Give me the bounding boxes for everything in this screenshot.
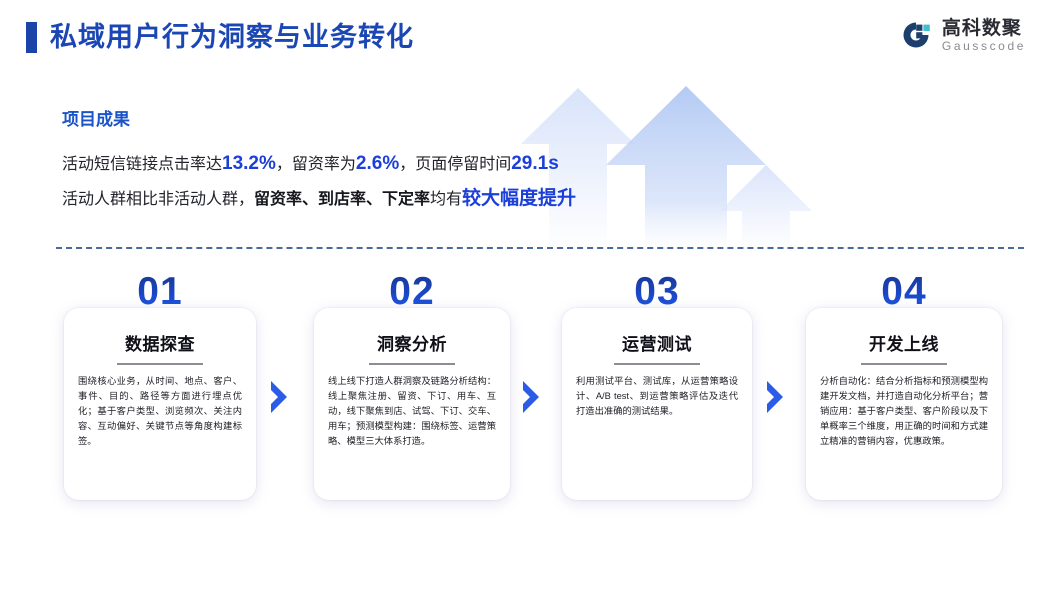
results-line1-seg1: 活动短信链接点击率达 (62, 156, 222, 173)
slide-root: 私域用户行为洞察与业务转化 高科数聚 Gausscode 项目成果 活动短信链接… (0, 0, 1048, 591)
results-section: 项目成果 活动短信链接点击率达13.2%，留资率为2.6%，页面停留时间29.1… (62, 108, 762, 219)
page-header: 私域用户行为洞察与业务转化 高科数聚 Gausscode (0, 0, 1048, 78)
brand-logo-text: 高科数聚 Gausscode (942, 18, 1026, 53)
step-title-rule-04 (861, 363, 947, 365)
steps-section: 01 数据探查 围绕核心业务，从时间、地点、客户、事件、目的、路径等方面进行埋点… (0, 272, 1048, 512)
section-divider (56, 247, 1024, 249)
step-title-rule-02 (369, 363, 455, 365)
metric-lead-rate: 2.6% (356, 153, 399, 174)
results-line-1: 活动短信链接点击率达13.2%，留资率为2.6%，页面停留时间29.1s (62, 149, 762, 180)
brand-name-en: Gausscode (942, 39, 1026, 53)
metric-dwell-time: 29.1s (511, 153, 559, 174)
metric-click-rate: 13.2% (222, 153, 276, 174)
page-title-text: 私域用户行为洞察与业务转化 (50, 22, 414, 53)
step-number-04: 04 (806, 272, 1002, 312)
results-line1-seg3: ，页面停留时间 (399, 156, 511, 173)
step-card-04[interactable]: 04 开发上线 分析自动化：结合分析指标和预测模型构建开发文档，并打造自动化分析… (806, 308, 1002, 500)
step-number-01: 01 (64, 272, 256, 312)
chevron-right-icon-2 (520, 380, 542, 414)
step-text-03: 利用测试平台、测试库，从运营策略设计、A/B test、到运营策略评估及迭代打造… (576, 374, 738, 419)
results-line2-metrics: 留资率、到店率、下定率 (254, 191, 430, 208)
page-title: 私域用户行为洞察与业务转化 (26, 22, 414, 53)
step-title-04: 开发上线 (820, 334, 988, 356)
step-title-03: 运营测试 (576, 334, 738, 356)
results-heading: 项目成果 (62, 108, 762, 132)
brand-name-cn: 高科数聚 (942, 18, 1026, 39)
step-text-02: 线上线下打造人群洞察及链路分析结构：线上聚焦注册、留资、下订、用车、互动，线下聚… (328, 374, 496, 449)
step-card-body-02: 洞察分析 线上线下打造人群洞察及链路分析结构：线上聚焦注册、留资、下订、用车、互… (314, 308, 510, 500)
step-title-rule-01 (117, 363, 203, 365)
step-title-02: 洞察分析 (328, 334, 496, 356)
gausscode-logo-icon (900, 19, 933, 52)
step-number-02: 02 (314, 272, 510, 312)
step-card-03[interactable]: 03 运营测试 利用测试平台、测试库，从运营策略设计、A/B test、到运营策… (562, 308, 752, 500)
step-text-04: 分析自动化：结合分析指标和预测模型构建开发文档，并打造自动化分析平台；营销应用：… (820, 374, 988, 449)
step-card-body-03: 运营测试 利用测试平台、测试库，从运营策略设计、A/B test、到运营策略评估… (562, 308, 752, 500)
step-card-body-04: 开发上线 分析自动化：结合分析指标和预测模型构建开发文档，并打造自动化分析平台；… (806, 308, 1002, 500)
step-number-03: 03 (562, 272, 752, 312)
chevron-right-icon-3 (764, 380, 786, 414)
brand-logo: 高科数聚 Gausscode (900, 18, 1026, 53)
step-card-01[interactable]: 01 数据探查 围绕核心业务，从时间、地点、客户、事件、目的、路径等方面进行埋点… (64, 308, 256, 500)
step-text-01: 围绕核心业务，从时间、地点、客户、事件、目的、路径等方面进行埋点优化；基于客户类… (78, 374, 242, 449)
step-title-rule-03 (614, 363, 700, 365)
step-card-02[interactable]: 02 洞察分析 线上线下打造人群洞察及链路分析结构：线上聚焦注册、留资、下订、用… (314, 308, 510, 500)
results-line1-seg2: ，留资率为 (276, 156, 356, 173)
results-line2-seg1: 活动人群相比非活动人群， (62, 191, 254, 208)
chevron-right-icon-1 (268, 380, 290, 414)
step-title-01: 数据探查 (78, 334, 242, 356)
results-line2-highlight: 较大幅度提升 (462, 188, 576, 209)
results-line-2: 活动人群相比非活动人群，留资率、到店率、下定率均有较大幅度提升 (62, 184, 762, 215)
step-card-body-01: 数据探查 围绕核心业务，从时间、地点、客户、事件、目的、路径等方面进行埋点优化；… (64, 308, 256, 500)
title-accent-bar (26, 22, 37, 53)
results-line2-seg2: 均有 (430, 191, 462, 208)
